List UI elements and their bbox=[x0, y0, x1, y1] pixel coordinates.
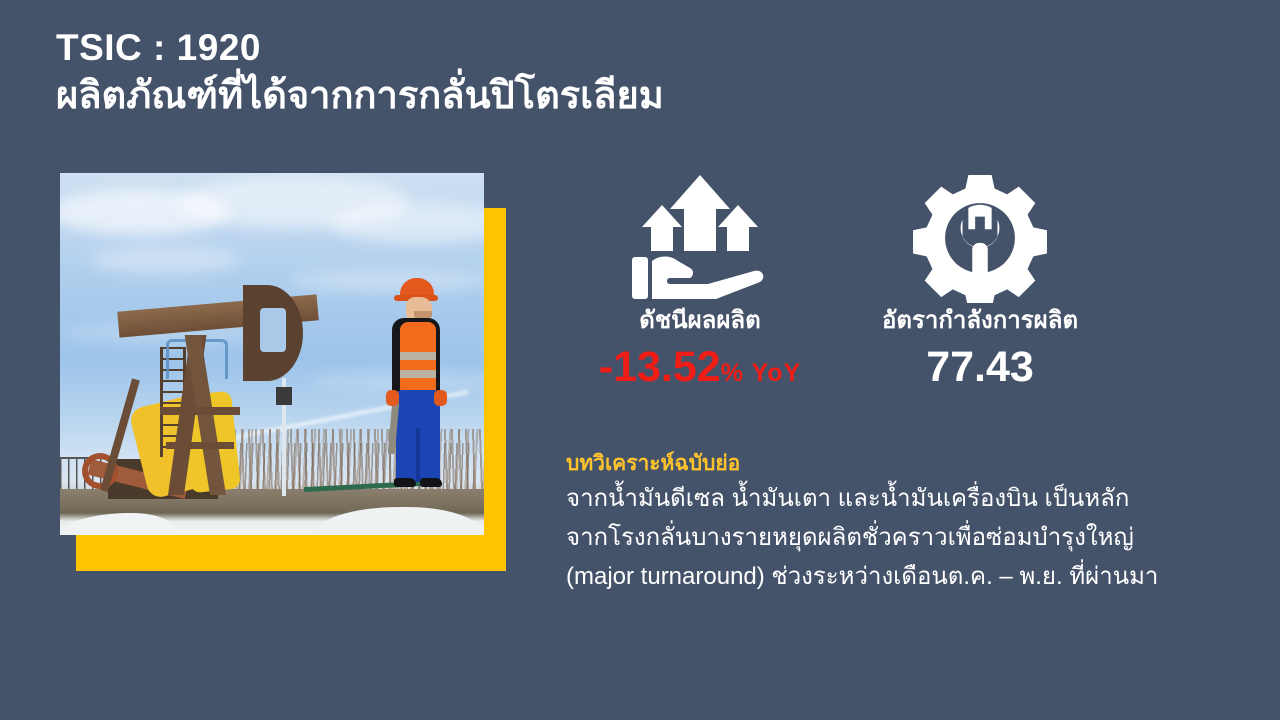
hand-with-rising-arrows-icon bbox=[630, 168, 770, 308]
infographic-slide: TSIC : 1920 ผลิตภัณฑ์ที่ได้จากการกลั่นปิ… bbox=[0, 0, 1280, 720]
kpi-label: อัตรากำลังการผลิต bbox=[882, 308, 1078, 334]
analysis-block: บทวิเคราะห์ฉบับย่อ จากน้ำมันดีเซล น้ำมัน… bbox=[566, 450, 1266, 597]
analysis-line: จากโรงกลั่นบางรายหยุดผลิตชั่วคราวเพื่อซ่… bbox=[566, 519, 1266, 558]
kpi-value-unit: % YoY bbox=[721, 359, 802, 387]
kpi-row: ดัชนีผลผลิต -13.52% YoY อัตรา bbox=[560, 168, 1140, 418]
analysis-line: จากน้ำมันดีเซล น้ำมันเตา และน้ำมันเครื่อ… bbox=[566, 480, 1266, 519]
kpi-label: ดัชนีผลผลิต bbox=[639, 308, 760, 334]
gear-wrench-icon bbox=[910, 168, 1050, 308]
page-title: TSIC : 1920 ผลิตภัณฑ์ที่ได้จากการกลั่นปิ… bbox=[56, 28, 664, 120]
analysis-line: (major turnaround) ช่วงระหว่างเดือนต.ค. … bbox=[566, 558, 1266, 597]
kpi-capacity-utilization: อัตรากำลังการผลิต 77.43 bbox=[840, 168, 1120, 418]
tsic-code: TSIC : 1920 bbox=[56, 28, 664, 69]
kpi-value-number: 77.43 bbox=[926, 343, 1034, 391]
worker-figure bbox=[378, 278, 450, 493]
oil-pumpjack-photo bbox=[60, 173, 484, 535]
kpi-production-index: ดัชนีผลผลิต -13.52% YoY bbox=[560, 168, 840, 418]
kpi-value: -13.52% YoY bbox=[599, 346, 801, 389]
analysis-heading: บทวิเคราะห์ฉบับย่อ bbox=[566, 450, 1266, 478]
kpi-value-number: -13.52 bbox=[599, 343, 721, 391]
photo-block bbox=[60, 173, 506, 571]
kpi-value: 77.43 bbox=[926, 346, 1034, 389]
industry-name: ผลิตภัณฑ์ที่ได้จากการกลั่นปิโตรเลียม bbox=[56, 73, 664, 121]
